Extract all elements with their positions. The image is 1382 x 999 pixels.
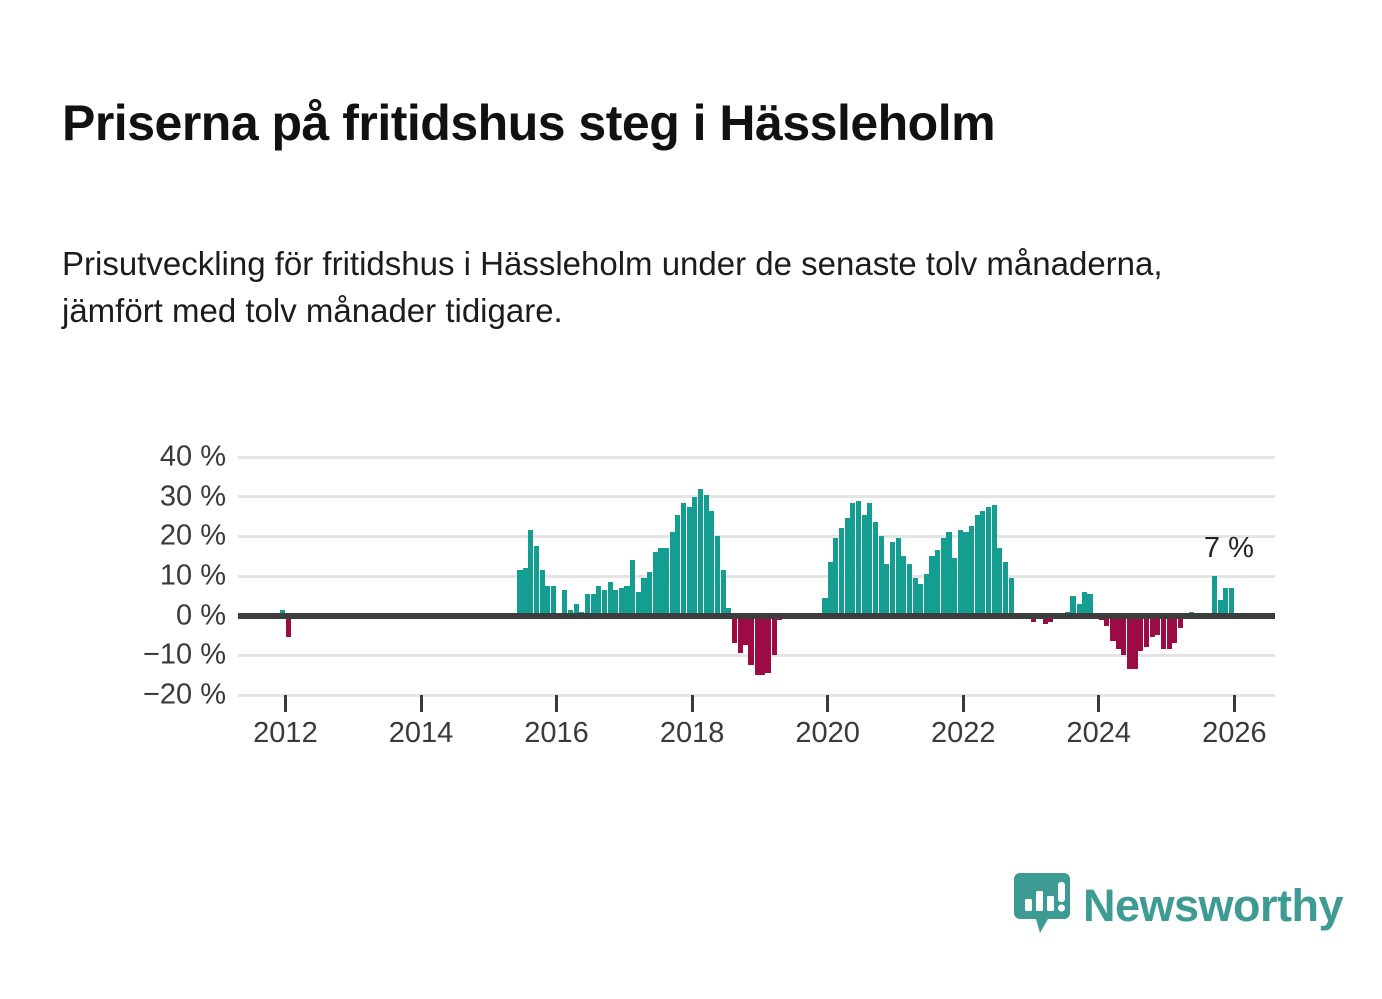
y-axis-tick-label: 0 % — [66, 599, 226, 632]
y-axis-tick-label: 20 % — [66, 520, 226, 553]
bar — [534, 546, 539, 615]
bar — [675, 515, 680, 616]
bar — [755, 616, 760, 676]
bar — [997, 548, 1002, 615]
bar — [545, 586, 550, 616]
x-axis-tick-mark — [284, 695, 287, 712]
bar — [1223, 588, 1228, 616]
bar — [975, 515, 980, 616]
x-axis-tick-mark — [420, 695, 423, 712]
y-axis-tick-label: 10 % — [66, 560, 226, 593]
bar — [946, 532, 951, 615]
bar — [1229, 588, 1234, 616]
gridline — [238, 694, 1275, 697]
x-axis-tick-label: 2022 — [931, 717, 996, 750]
x-axis-tick-mark — [1233, 695, 1236, 712]
y-axis-tick-label: −10 % — [66, 639, 226, 672]
newsworthy-bubble-bar-chart-logo-icon — [1014, 873, 1070, 938]
x-axis-tick-mark — [1097, 695, 1100, 712]
bar — [833, 538, 838, 615]
bar-chart: 40 %30 %20 %10 %0 %−10 %−20 %20122014201… — [0, 0, 1382, 999]
x-axis-tick-mark — [555, 695, 558, 712]
bar — [867, 503, 872, 616]
bar — [658, 548, 663, 615]
bar — [1150, 616, 1155, 638]
bar — [624, 586, 629, 616]
bar — [862, 515, 867, 616]
bar — [641, 578, 646, 616]
bar — [1212, 576, 1217, 616]
chart-page: Priserna på fritidshus steg i Hässleholm… — [0, 0, 1382, 999]
y-axis-tick-label: 40 % — [66, 441, 226, 474]
y-axis-tick-label: −20 % — [66, 679, 226, 712]
bar — [732, 616, 737, 644]
x-axis-tick-mark — [691, 695, 694, 712]
newsworthy-wordmark: Newsworthy — [1083, 883, 1343, 928]
x-axis-tick-label: 2024 — [1067, 717, 1132, 750]
plot-area — [238, 457, 1275, 695]
bar — [619, 588, 624, 616]
newsworthy-logo: Newsworthy — [1014, 874, 1343, 936]
x-axis-tick-label: 2014 — [389, 717, 454, 750]
bar — [517, 570, 522, 616]
bar — [924, 574, 929, 616]
bar — [653, 552, 658, 615]
bar — [1009, 578, 1014, 616]
bar — [969, 526, 974, 615]
bar — [958, 530, 963, 615]
x-axis-tick-label: 2016 — [524, 717, 589, 750]
bar — [698, 489, 703, 616]
gridline — [238, 535, 1275, 538]
bar — [918, 584, 923, 616]
zero-line — [238, 613, 1275, 619]
bar — [743, 616, 748, 646]
bar — [664, 548, 669, 615]
bar — [1127, 616, 1132, 670]
bar — [828, 562, 833, 616]
bar — [647, 572, 652, 616]
bar — [913, 578, 918, 616]
bar — [839, 528, 844, 615]
bar — [286, 616, 291, 638]
bar — [1116, 616, 1121, 650]
gridline — [238, 456, 1275, 459]
bar — [551, 586, 556, 616]
bar — [992, 505, 997, 616]
bar — [608, 582, 613, 616]
x-axis-tick-label: 2012 — [253, 717, 318, 750]
bar — [845, 518, 850, 615]
x-axis-tick-mark — [826, 695, 829, 712]
bar — [907, 564, 912, 616]
bar — [681, 503, 686, 616]
x-axis-tick-label: 2026 — [1202, 717, 1267, 750]
bar — [929, 556, 934, 616]
last-value-label: 7 % — [1204, 532, 1254, 565]
bar — [692, 497, 697, 616]
bar — [709, 511, 714, 616]
bar — [540, 570, 545, 616]
bar — [1003, 562, 1008, 616]
bar — [670, 532, 675, 615]
bar — [748, 616, 753, 666]
bar — [1167, 616, 1172, 650]
bar — [1161, 616, 1166, 650]
bar — [896, 538, 901, 615]
bar — [523, 568, 528, 616]
bar — [687, 507, 692, 616]
gridline — [238, 495, 1275, 498]
bar — [721, 570, 726, 616]
bar — [941, 538, 946, 615]
bar — [1133, 616, 1138, 670]
bar — [760, 616, 765, 676]
bar — [850, 503, 855, 616]
bar — [528, 530, 533, 615]
bar — [1172, 616, 1177, 644]
bar — [980, 511, 985, 616]
bar — [873, 522, 878, 615]
y-axis-tick-label: 30 % — [66, 480, 226, 513]
bar — [856, 501, 861, 616]
bar — [890, 542, 895, 615]
bar — [1110, 616, 1115, 642]
x-axis-tick-label: 2020 — [795, 717, 860, 750]
bar — [901, 556, 906, 616]
bar — [704, 495, 709, 616]
bar — [963, 532, 968, 615]
bar — [1121, 616, 1126, 656]
bar — [630, 560, 635, 616]
bar — [738, 616, 743, 654]
bar — [986, 507, 991, 616]
x-axis-tick-label: 2018 — [660, 717, 725, 750]
bar — [1138, 616, 1143, 652]
bar — [879, 536, 884, 615]
bar — [715, 536, 720, 615]
bar — [772, 616, 777, 656]
x-axis-tick-mark — [962, 695, 965, 712]
bar — [1144, 616, 1149, 648]
bar — [765, 616, 770, 674]
bar — [596, 586, 601, 616]
bar — [935, 550, 940, 615]
bar — [952, 558, 957, 616]
gridline — [238, 575, 1275, 578]
bar — [884, 564, 889, 616]
